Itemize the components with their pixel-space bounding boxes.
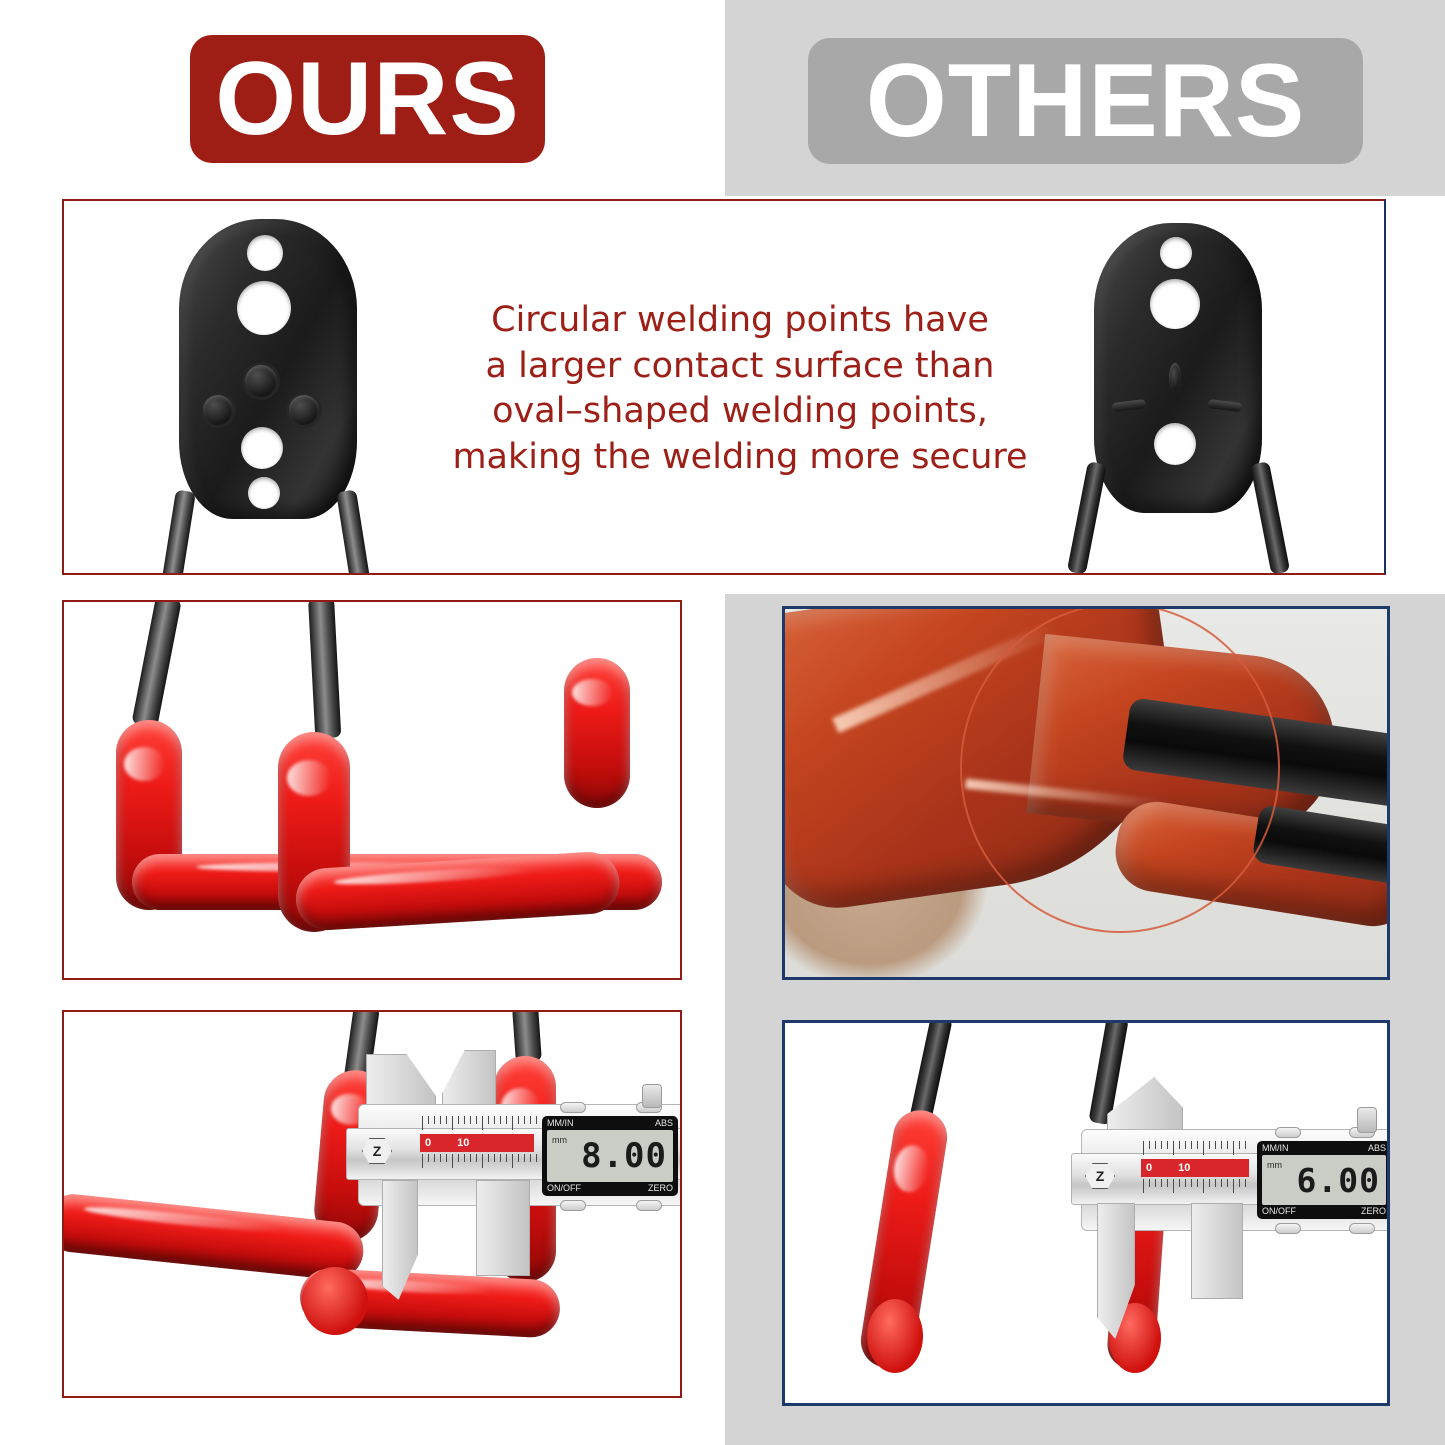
panel-others-caliper: Z 0 10 xyxy=(782,1020,1390,1406)
caliper-label-mmin: MM/IN xyxy=(1262,1144,1289,1153)
caliper-red-scale: 0 10 xyxy=(420,1134,534,1152)
caliper-display-bottom-labels: ON/OFF ZERO xyxy=(547,1184,673,1193)
caliper-label-zero: ZERO xyxy=(1361,1207,1386,1216)
caliper-label-onoff: ON/OFF xyxy=(1262,1207,1296,1216)
oval-weld-point xyxy=(1169,363,1181,391)
mount-hole xyxy=(1160,237,1192,269)
circular-weld-point xyxy=(289,395,319,425)
headline-line-3: oval–shaped welding points, xyxy=(440,389,1040,435)
others-bracket-illustration xyxy=(1094,223,1262,513)
bracket-leg-left xyxy=(162,489,196,575)
annotation-circle xyxy=(960,606,1280,933)
panel-ours-caliper: Z 0 10 xyxy=(62,1010,682,1398)
bracket-leg-left xyxy=(1067,461,1107,575)
caliper-scale-mark-0: 0 xyxy=(1146,1162,1152,1174)
hook-steel-tube-left xyxy=(909,1020,953,1125)
caliper-button-bottom-left[interactable] xyxy=(1275,1223,1301,1234)
mount-hole xyxy=(1150,279,1200,329)
caliper-label-mmin: MM/IN xyxy=(547,1119,574,1128)
mount-hole xyxy=(237,281,291,335)
hook-end-cap-left xyxy=(867,1299,923,1373)
hook-steel-tube-front xyxy=(308,600,341,738)
caliper-lcd: mm 6.00 xyxy=(1262,1155,1386,1205)
caliper-lcd: mm 8.00 xyxy=(547,1130,673,1182)
caliper-reading: 6.00 xyxy=(1297,1161,1380,1200)
caliper-red-scale: 0 10 xyxy=(1141,1159,1249,1177)
caliper-slider-jaw xyxy=(476,1180,530,1276)
caliper-display-bottom-labels: ON/OFF ZERO xyxy=(1262,1207,1386,1216)
headline-text: Circular welding points have a larger co… xyxy=(440,298,1040,480)
caliper-tick-marks-upper xyxy=(422,1116,542,1132)
mount-hole xyxy=(248,477,280,509)
caliper-button-top-left[interactable] xyxy=(560,1102,586,1113)
ours-badge-label: OURS xyxy=(215,40,519,159)
digital-caliper-others: Z 0 10 xyxy=(1071,1073,1390,1293)
circular-weld-point xyxy=(203,395,233,425)
caliper-tick-marks-upper xyxy=(1143,1141,1251,1157)
caliper-slider-jaw xyxy=(1191,1203,1243,1299)
bracket-leg-right xyxy=(1250,461,1290,575)
caliper-reading: 8.00 xyxy=(581,1136,667,1176)
bracket-leg-right xyxy=(336,489,370,575)
hook-steel-tube-rear xyxy=(131,600,181,728)
caliper-label-onoff: ON/OFF xyxy=(547,1184,581,1193)
panel-ours-hooks xyxy=(62,600,682,980)
mount-hole xyxy=(247,235,283,271)
caliper-tick-marks-lower xyxy=(422,1154,542,1170)
caliper-display-top-labels: MM/IN ABS xyxy=(1262,1144,1386,1153)
caliper-button-bottom-left[interactable] xyxy=(560,1200,586,1211)
caliper-display: MM/IN ABS mm 6.00 ON/OFF ZERO xyxy=(1257,1141,1390,1219)
mount-hole xyxy=(241,427,283,469)
headline-line-2: a larger contact surface than xyxy=(440,344,1040,390)
circular-weld-point xyxy=(245,365,277,397)
caliper-scale-mark-0: 0 xyxy=(425,1137,431,1149)
panel-others-peeling-coating xyxy=(782,606,1390,980)
hook-end-cap xyxy=(302,1267,368,1335)
others-badge: OTHERS xyxy=(808,38,1363,164)
digital-caliper-ours: Z 0 10 xyxy=(346,1050,682,1260)
caliper-tick-marks-lower xyxy=(1143,1179,1251,1195)
caliper-button-top-left[interactable] xyxy=(1275,1127,1301,1138)
caliper-scale-mark-10: 10 xyxy=(1178,1162,1190,1174)
peeling-coating-photo xyxy=(785,609,1387,977)
caliper-display-top-labels: MM/IN ABS xyxy=(547,1119,673,1128)
caliper-unit: mm xyxy=(1267,1160,1282,1170)
ours-bracket-illustration xyxy=(179,219,357,519)
headline-line-4: making the welding more secure xyxy=(440,435,1040,481)
caliper-scale-mark-10: 10 xyxy=(457,1137,469,1149)
caliper-thumb-screw[interactable] xyxy=(1357,1107,1377,1133)
hook-upturn-front xyxy=(564,658,630,808)
caliper-label-zero: ZERO xyxy=(648,1184,673,1193)
mount-hole xyxy=(1154,423,1196,465)
others-badge-label: OTHERS xyxy=(866,42,1305,161)
infographic-canvas: OURS OTHERS xyxy=(0,0,1445,1445)
caliper-unit: mm xyxy=(552,1135,567,1145)
caliper-button-bottom-right[interactable] xyxy=(636,1200,662,1211)
headline-line-1: Circular welding points have xyxy=(440,298,1040,344)
caliper-label-abs: ABS xyxy=(655,1119,673,1128)
ours-badge: OURS xyxy=(190,35,545,163)
caliper-thumb-screw[interactable] xyxy=(642,1084,662,1108)
caliper-button-bottom-right[interactable] xyxy=(1349,1223,1375,1234)
caliper-label-abs: ABS xyxy=(1368,1144,1386,1153)
caliper-display: MM/IN ABS mm 8.00 ON/OFF ZERO xyxy=(542,1116,678,1196)
